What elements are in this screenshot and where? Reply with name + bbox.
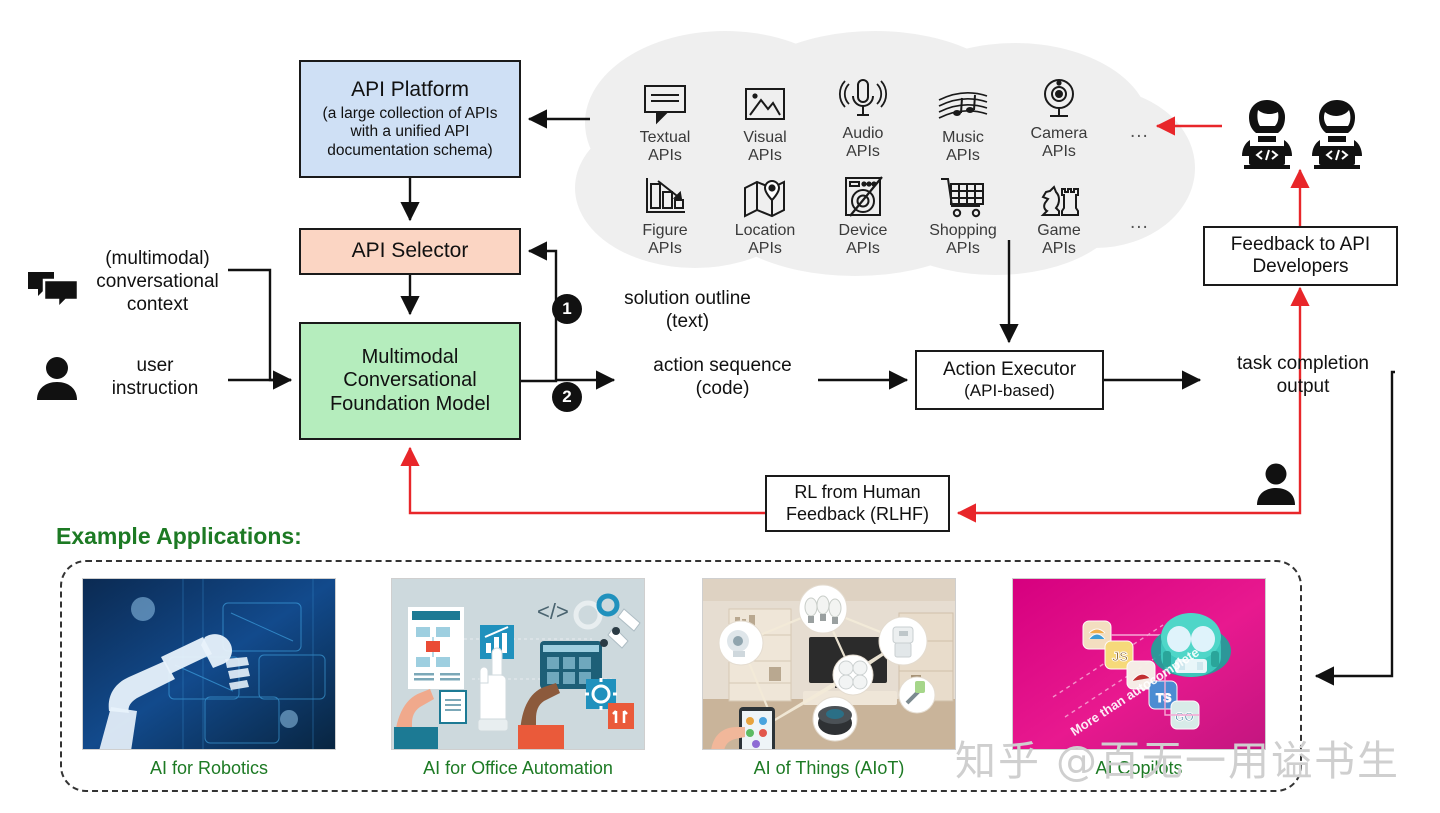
example-app-robotics[interactable]: AI for Robotics: [82, 578, 336, 779]
example-app-caption: AI of Things (AIoT): [702, 758, 956, 779]
api-tile-game[interactable]: GameAPIs: [1004, 167, 1114, 258]
api-tile-sublabel: APIs: [748, 147, 782, 164]
action-executor-box[interactable]: Action Executor (API-based): [915, 350, 1104, 410]
rlhf-box[interactable]: RL from Human Feedback (RLHF): [765, 475, 950, 532]
api-platform-box[interactable]: API Platform (a large collection of APIs…: [299, 60, 521, 178]
solution-outline-label: solution outline (text): [595, 288, 780, 334]
api-tile-audio[interactable]: AudioAPIs: [808, 70, 918, 161]
api-tile-label: Music: [942, 129, 984, 146]
music-api-icon: [908, 74, 1018, 126]
diagram-canvas: TextualAPIs VisualAPIs AudioAPIs: [0, 0, 1440, 813]
copilot-illustration: JS TS GO: [1012, 578, 1266, 750]
smart-home-photo: [702, 578, 956, 750]
action-executor-line2: (API-based): [964, 381, 1055, 401]
api-tile-visual[interactable]: VisualAPIs: [710, 74, 820, 165]
api-tile-textual[interactable]: TextualAPIs: [610, 74, 720, 165]
api-tile-sublabel: APIs: [648, 147, 682, 164]
api-selector-box[interactable]: API Selector: [299, 228, 521, 275]
conversational-context-label: (multimodal) conversational context: [60, 248, 255, 316]
game-api-icon: [1004, 167, 1114, 219]
api-tile-label: Location: [735, 222, 796, 239]
example-applications-heading: Example Applications:: [56, 523, 302, 550]
feedback-to-api-developers-box[interactable]: Feedback to API Developers: [1203, 226, 1398, 286]
api-tile-sublabel: APIs: [748, 240, 782, 257]
feedback-line1: Feedback to API: [1231, 234, 1370, 256]
foundation-model-box[interactable]: Multimodal Conversational Foundation Mod…: [299, 322, 521, 440]
api-tile-label: Figure: [642, 222, 687, 239]
api-tile-figure[interactable]: FigureAPIs: [610, 167, 720, 258]
api-tile-device[interactable]: DeviceAPIs: [808, 167, 918, 258]
api-tile-shopping[interactable]: ShoppingAPIs: [908, 167, 1018, 258]
api-tile-label: Game: [1037, 222, 1081, 239]
zhihu-watermark: 知乎 @百无一用谥书生: [955, 727, 1400, 787]
shopping-api-icon: [908, 167, 1018, 219]
api-tile-sublabel: APIs: [846, 143, 880, 160]
api-tile-music[interactable]: MusicAPIs: [908, 74, 1018, 165]
rlhf-line2: Feedback (RLHF): [786, 504, 929, 525]
feedback-line2: Developers: [1252, 256, 1348, 278]
camera-api-icon: [1004, 70, 1114, 122]
visual-api-icon: [710, 74, 820, 126]
task-completion-output-label: task completion output: [1208, 353, 1398, 399]
foundation-model-line3: Foundation Model: [330, 393, 490, 417]
location-api-icon: [710, 167, 820, 219]
office-automation-illustration: </>: [391, 578, 645, 750]
action-sequence-label: action sequence (code): [630, 355, 815, 401]
api-tile-sublabel: APIs: [1042, 143, 1076, 160]
api-tile-camera[interactable]: CameraAPIs: [1004, 70, 1114, 161]
svg-text:TS: TS: [1156, 691, 1171, 705]
api-tile-label: Shopping: [929, 222, 997, 239]
foundation-model-line1: Multimodal: [362, 346, 459, 370]
api-tile-sublabel: APIs: [946, 147, 980, 164]
foundation-model-line2: Conversational: [343, 369, 476, 393]
api-tile-label: Textual: [640, 129, 691, 146]
api-selector-title: API Selector: [352, 239, 469, 264]
svg-text:</>: </>: [537, 599, 569, 624]
cloud-ellipsis-bottom: ...: [1130, 212, 1149, 234]
figure-api-icon: [610, 167, 720, 219]
action-executor-line1: Action Executor: [943, 359, 1076, 381]
api-tile-location[interactable]: LocationAPIs: [710, 167, 820, 258]
svg-text:JS: JS: [1112, 649, 1128, 664]
svg-text:GO: GO: [1175, 710, 1194, 724]
example-app-office-automation[interactable]: </> AI for Office Automation: [391, 578, 645, 779]
api-tile-label: Visual: [743, 129, 786, 146]
api-tile-label: Camera: [1031, 125, 1088, 142]
human-evaluator-icon: [1254, 462, 1298, 511]
audio-api-icon: [808, 70, 918, 122]
textual-api-icon: [610, 74, 720, 126]
cloud-ellipsis-top: ...: [1130, 121, 1149, 143]
robot-arm-photo: [82, 578, 336, 750]
example-app-caption: AI for Office Automation: [391, 758, 645, 779]
api-tile-sublabel: APIs: [846, 240, 880, 257]
rlhf-line1: RL from Human: [794, 482, 920, 503]
example-app-caption: AI for Robotics: [82, 758, 336, 779]
user-instruction-label: user instruction: [85, 355, 225, 401]
api-developer-female-icon: [1236, 98, 1298, 175]
api-tile-sublabel: APIs: [1042, 240, 1076, 257]
example-app-aiot[interactable]: AI of Things (AIoT): [702, 578, 956, 779]
api-tile-label: Audio: [843, 125, 884, 142]
api-tile-sublabel: APIs: [946, 240, 980, 257]
api-tile-label: Device: [839, 222, 888, 239]
user-person-icon: [34, 355, 80, 406]
step-badge-2: 2: [552, 382, 582, 412]
device-api-icon: [808, 167, 918, 219]
api-platform-title: API Platform: [351, 78, 469, 103]
api-developer-male-icon: [1306, 98, 1368, 175]
api-tile-sublabel: APIs: [648, 240, 682, 257]
step-badge-1: 1: [552, 294, 582, 324]
api-platform-subtitle: (a large collection of APIs with a unifi…: [323, 105, 498, 160]
